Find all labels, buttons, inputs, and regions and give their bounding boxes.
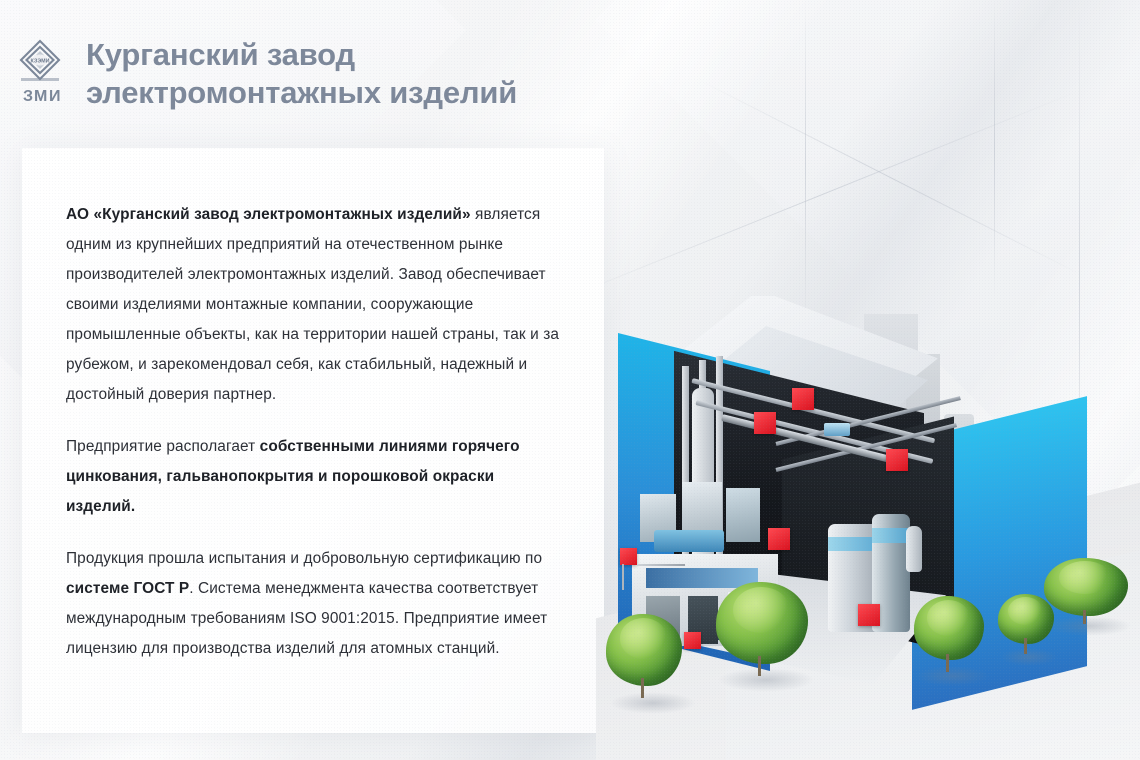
paragraph-3-part-1: Продукция прошла испытания и добровольну… bbox=[66, 550, 542, 567]
process-tank-2-band bbox=[872, 528, 910, 543]
description-card: АО «Курганский завод электромонтажных из… bbox=[22, 148, 604, 733]
marker-exterior-left-stem bbox=[637, 564, 685, 566]
marker-ceiling-3 bbox=[886, 449, 908, 471]
marker-ceiling-2 bbox=[754, 412, 776, 434]
marker-exterior-left bbox=[620, 548, 637, 565]
crane-hoist bbox=[824, 423, 850, 436]
marker-machine bbox=[684, 632, 701, 649]
paragraph-production-lines: Предприятие располагает собственными лин… bbox=[66, 432, 560, 522]
marker-tank bbox=[858, 604, 880, 626]
tree-5-trunk bbox=[1083, 610, 1086, 624]
tree-3-trunk bbox=[946, 654, 949, 672]
tree-1-trunk bbox=[641, 678, 644, 698]
paragraph-1-body: является одним из крупнейших предприятий… bbox=[66, 206, 559, 403]
gost-r-highlight: системе ГОСТ Р bbox=[66, 580, 189, 597]
svg-text:М: М bbox=[34, 88, 47, 105]
tree-1 bbox=[606, 614, 682, 698]
tree-2-trunk bbox=[758, 656, 761, 676]
svg-text:КЗЭМИ: КЗЭМИ bbox=[30, 58, 49, 64]
marker-interior-1 bbox=[768, 528, 790, 550]
tree-1-crown bbox=[606, 614, 682, 686]
upper-plant-unit-3 bbox=[726, 488, 760, 542]
page-title-line-2: электромонтажных изделий bbox=[86, 74, 706, 112]
page-title-line-1: Курганский завод bbox=[86, 36, 706, 74]
slide-root: КЗЭМИ З М И Курганский завод электромонт… bbox=[0, 0, 1140, 760]
svg-text:И: И bbox=[49, 88, 61, 105]
marker-exterior-left-drop bbox=[622, 564, 624, 590]
tree-4-trunk bbox=[1024, 638, 1027, 654]
tree-5 bbox=[1044, 558, 1128, 624]
tree-2-crown bbox=[716, 582, 808, 664]
tree-3 bbox=[914, 596, 984, 672]
tree-5-crown bbox=[1044, 558, 1128, 616]
tree-2 bbox=[716, 582, 808, 676]
isometric-factory-illustration bbox=[596, 296, 1140, 760]
company-legal-name: АО «Курганский завод электромонтажных из… bbox=[66, 206, 471, 223]
page-title: Курганский завод электромонтажных издели… bbox=[86, 36, 706, 112]
vertical-duct bbox=[906, 526, 922, 572]
company-logo-icon: КЗЭМИ З М И bbox=[16, 38, 64, 108]
svg-text:З: З bbox=[23, 88, 33, 105]
paragraph-2-lead: Предприятие располагает bbox=[66, 438, 260, 455]
galvanizing-bath bbox=[654, 530, 724, 552]
paragraph-company-overview: АО «Курганский завод электромонтажных из… bbox=[66, 200, 560, 410]
tree-3-crown bbox=[914, 596, 984, 660]
marker-ceiling-1 bbox=[792, 388, 814, 410]
paragraph-certification: Продукция прошла испытания и добровольну… bbox=[66, 544, 560, 664]
header: КЗЭМИ З М И Курганский завод электромонт… bbox=[0, 0, 1140, 140]
